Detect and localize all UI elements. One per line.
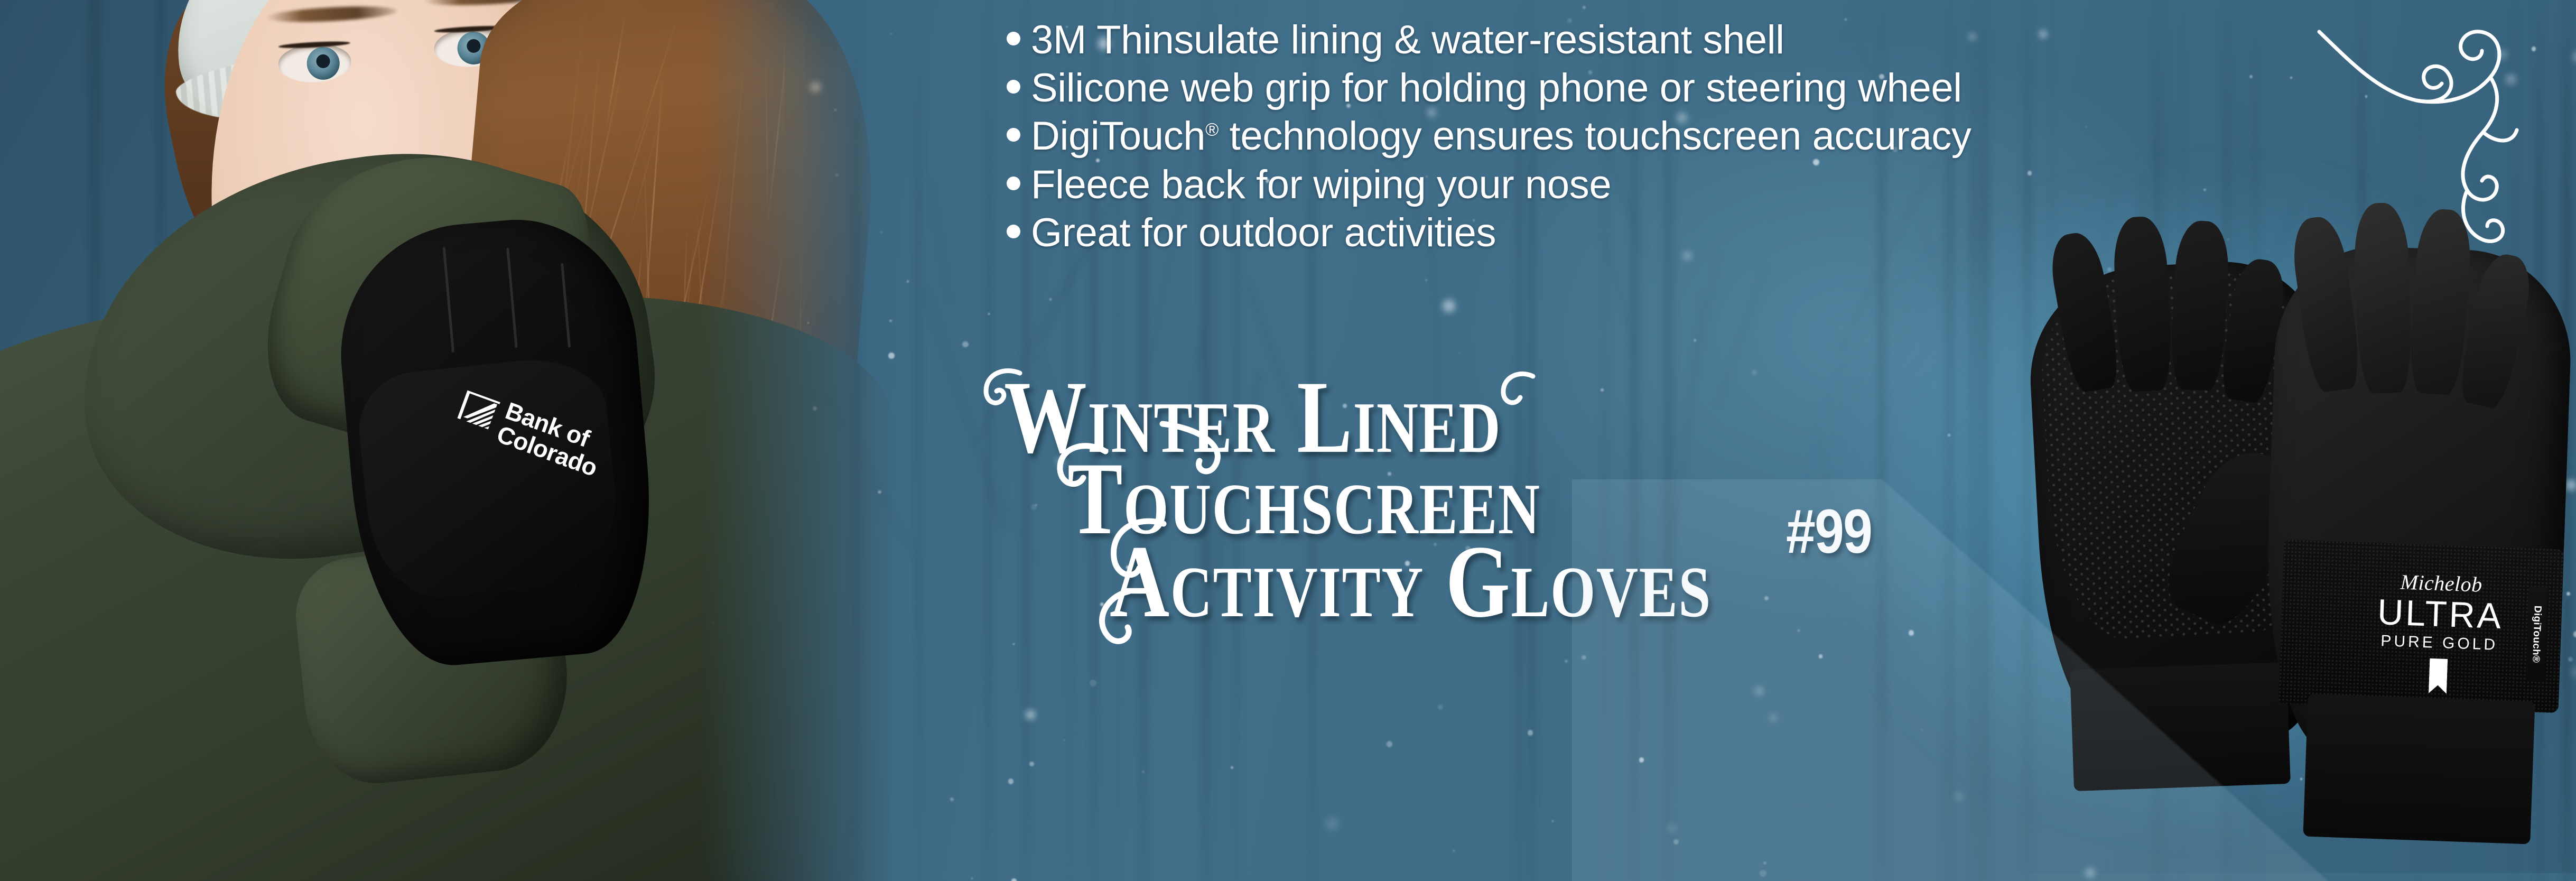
lifestyle-photo: Bank of Colorado [0,0,930,881]
glove-seam [561,263,571,348]
bullet-dot-icon [1007,80,1020,94]
michelob-ultra-logo: Michelob ULTRA PURE GOLD [2358,568,2521,697]
feature-text-after: technology ensures touchscreen accuracy [1219,114,1971,159]
digitouch-tag-text: DigiTouch® [2529,605,2543,663]
ultra-wordmark: ULTRA [2360,593,2520,636]
eye-left [277,42,352,84]
promo-banner: Bank of Colorado 3M Thinsulate lining & … [0,0,2576,881]
feature-item: Silicone web grip for holding phone or s… [1007,64,2317,112]
feature-text: 3M Thinsulate lining & water-resistant s… [1031,16,1784,64]
headline-line-3: Activity Gloves [1110,534,1712,629]
glove-seam [443,247,454,353]
glove-knit-cuff [2070,662,2291,791]
feature-item: DigiTouch® technology ensures touchscree… [1007,112,2317,160]
bullet-dot-icon [1007,177,1020,190]
feature-text: Fleece back for wiping your nose [1031,161,1611,209]
registered-mark: ® [1205,120,1219,140]
eyebrow-left [265,4,397,24]
glove-finger [2353,202,2414,394]
feature-list: 3M Thinsulate lining & water-resistant s… [1007,16,2317,257]
bullet-dot-icon [1007,128,1020,142]
feature-item: Fleece back for wiping your nose [1007,161,2317,209]
glove-seam [506,248,518,348]
feature-text-before: DigiTouch [1031,114,1205,159]
bullet-dot-icon [1007,225,1020,238]
product-gloves: Michelob ULTRA PURE GOLD DigiTouch® [2037,248,2565,881]
ribbon-icon [2429,659,2448,694]
feature-text: Great for outdoor activities [1031,209,1496,257]
bullet-dot-icon [1007,32,1020,45]
feature-item: 3M Thinsulate lining & water-resistant s… [1007,16,2317,64]
glove-knit-cuff [2303,694,2535,845]
feature-text: Silicone web grip for holding phone or s… [1031,64,1962,112]
feature-text: DigiTouch® technology ensures touchscree… [1031,112,1971,160]
digitouch-side-tag: DigiTouch® [2526,586,2547,682]
